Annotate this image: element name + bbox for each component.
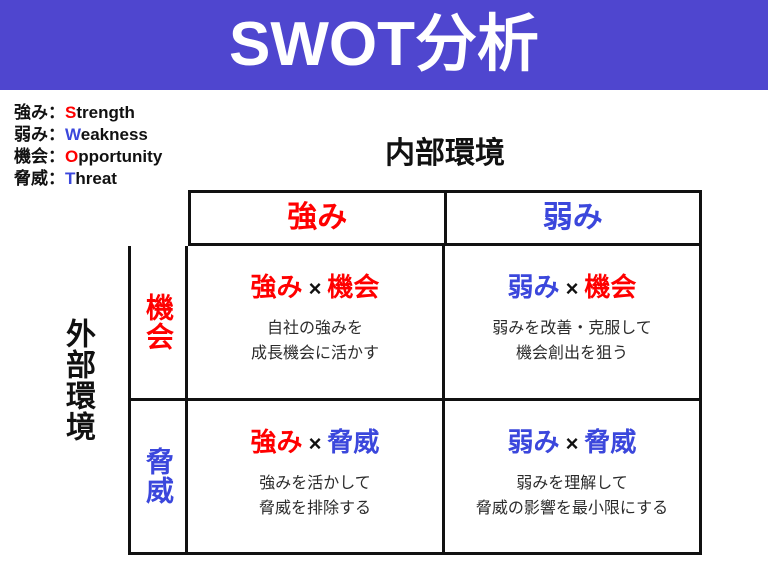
matrix-row-opportunity: 機会 強み×機会 自社の強みを 成長機会に活かす 弱み×機会 弱みを改善・克服し… <box>131 246 699 398</box>
matrix-column-headers: 強み 弱み <box>188 190 702 246</box>
cell-title-strength-opportunity: 強み×機会 <box>251 273 380 302</box>
legend-rest-threat: hreat <box>75 169 117 188</box>
cell-weakness-opportunity: 弱み×機会 弱みを改善・克服して 機会創出を狙う <box>442 246 699 398</box>
column-header-strength: 強み <box>191 193 444 243</box>
cell-title-weakness-threat: 弱み×脅威 <box>508 428 637 457</box>
header-banner: SWOT分析 <box>0 0 768 90</box>
cell-term-right-wt: 脅威 <box>584 427 636 457</box>
matrix-row-threat: 脅威 強み×脅威 強みを活かして 脅威を排除する 弱み×脅威 弱みを理解して 脅… <box>131 398 699 553</box>
row-header-threat-label: 脅威 <box>143 447 173 505</box>
legend-jp-strength: 強み <box>14 103 48 122</box>
cell-title-strength-threat: 強み×脅威 <box>251 428 380 457</box>
cell-term-left-wt: 弱み <box>508 427 560 457</box>
axis-label-internal: 内部環境 <box>188 128 702 172</box>
cell-term-left-so: 強み <box>251 272 303 302</box>
axis-label-external: 外部環境 <box>52 318 94 442</box>
cell-body-line2-wt: 脅威の影響を最小限にする <box>476 496 668 521</box>
cross-icon: × <box>303 431 328 456</box>
cell-term-left-wo: 弱み <box>508 272 560 302</box>
legend-colon-threat: ： <box>48 169 65 188</box>
cell-strength-threat: 強み×脅威 強みを活かして 脅威を排除する <box>188 401 442 553</box>
legend-jp-weakness: 弱み <box>14 125 48 144</box>
legend-initial-weakness: W <box>65 125 81 144</box>
row-header-opportunity: 機会 <box>131 246 188 398</box>
cell-term-right-so: 機会 <box>327 272 379 302</box>
cell-body-line2-wo: 機会創出を狙う <box>492 341 652 366</box>
legend-jp-opportunity: 機会 <box>14 147 48 166</box>
cell-body-line2-so: 成長機会に活かす <box>251 341 379 366</box>
legend-rest-opportunity: pportunity <box>78 147 162 166</box>
cell-strength-opportunity: 強み×機会 自社の強みを 成長機会に活かす <box>188 246 442 398</box>
matrix-body: 機会 強み×機会 自社の強みを 成長機会に活かす 弱み×機会 弱みを改善・克服し… <box>128 246 702 555</box>
legend-colon-strength: ： <box>48 103 65 122</box>
swot-diagram: SWOT分析 強み：Strength 弱み：Weakness 機会：Opport… <box>0 0 768 576</box>
row-header-opportunity-label: 機会 <box>143 293 173 351</box>
legend-initial-threat: T <box>65 169 75 188</box>
column-header-weakness: 弱み <box>444 193 700 243</box>
legend-initial-strength: S <box>65 103 76 122</box>
legend-rest-weakness: eakness <box>81 125 148 144</box>
cross-icon: × <box>560 431 585 456</box>
cross-icon: × <box>560 276 585 301</box>
legend-rest-strength: trength <box>76 103 135 122</box>
cell-weakness-threat: 弱み×脅威 弱みを理解して 脅威の影響を最小限にする <box>442 401 699 553</box>
cell-title-weakness-opportunity: 弱み×機会 <box>508 273 637 302</box>
page-title: SWOT分析 <box>229 14 539 76</box>
legend-jp-threat: 脅威 <box>14 169 48 188</box>
legend-colon-opportunity: ： <box>48 147 65 166</box>
cell-body-strength-threat: 強みを活かして 脅威を排除する <box>259 471 371 521</box>
cell-body-line1-wo: 弱みを改善・克服して <box>492 316 652 341</box>
cell-body-weakness-threat: 弱みを理解して 脅威の影響を最小限にする <box>476 471 668 521</box>
cell-body-weakness-opportunity: 弱みを改善・克服して 機会創出を狙う <box>492 316 652 366</box>
row-header-threat: 脅威 <box>131 401 188 553</box>
cell-body-line1-wt: 弱みを理解して <box>476 471 668 496</box>
legend-colon-weakness: ： <box>48 125 65 144</box>
legend-initial-opportunity: O <box>65 147 78 166</box>
cross-icon: × <box>303 276 328 301</box>
cell-body-line2-st: 脅威を排除する <box>259 496 371 521</box>
cell-term-right-st: 脅威 <box>327 427 379 457</box>
cell-term-right-wo: 機会 <box>584 272 636 302</box>
cell-body-line1-so: 自社の強みを <box>251 316 379 341</box>
legend-item-strength: 強み：Strength <box>14 102 244 124</box>
cell-body-strength-opportunity: 自社の強みを 成長機会に活かす <box>251 316 379 366</box>
cell-body-line1-st: 強みを活かして <box>259 471 371 496</box>
cell-term-left-st: 強み <box>251 427 303 457</box>
